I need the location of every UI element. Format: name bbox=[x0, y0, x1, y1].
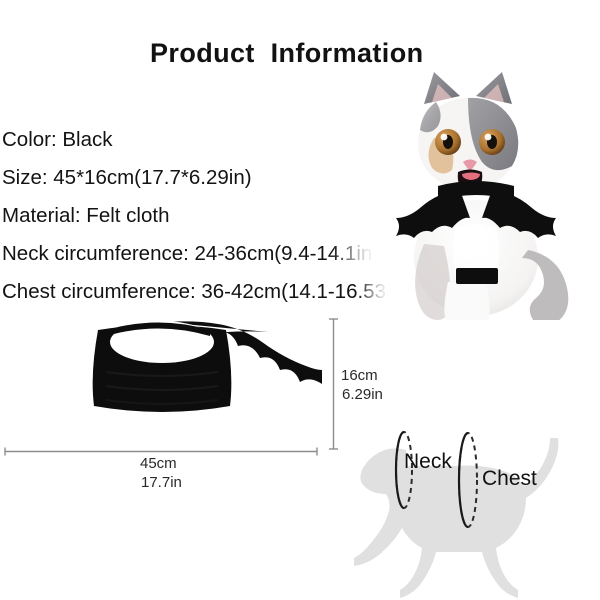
bat-wing-product-diagram bbox=[2, 316, 322, 446]
measure-width-cm: 45cm bbox=[140, 455, 177, 472]
product-information-page: Product Information Color: Black Size: 4… bbox=[0, 0, 600, 600]
label-neck: Neck bbox=[404, 450, 452, 474]
page-title: Product Information bbox=[150, 38, 424, 69]
cat-head bbox=[418, 72, 518, 192]
spec-chest-circumference: Chest circumference: 36-42cm(14.1-16.53i… bbox=[2, 280, 409, 304]
spec-neck-circumference: Neck circumference: 24-36cm(9.4-14.1in) bbox=[2, 242, 379, 266]
cat-wearing-bat-wings-photo bbox=[352, 68, 600, 320]
measure-width-in: 17.7in bbox=[141, 474, 182, 491]
spec-material: Material: Felt cloth bbox=[2, 204, 169, 228]
cat-silhouette-shape bbox=[354, 438, 558, 598]
spec-color: Color: Black bbox=[2, 128, 113, 152]
label-chest: Chest bbox=[482, 467, 537, 491]
height-measure-line bbox=[328, 318, 339, 450]
measure-height-cm: 16cm bbox=[341, 367, 378, 384]
cat-silhouette-measure-guide bbox=[348, 398, 600, 600]
spec-size: Size: 45*16cm(17.7*6.29in) bbox=[2, 166, 252, 190]
